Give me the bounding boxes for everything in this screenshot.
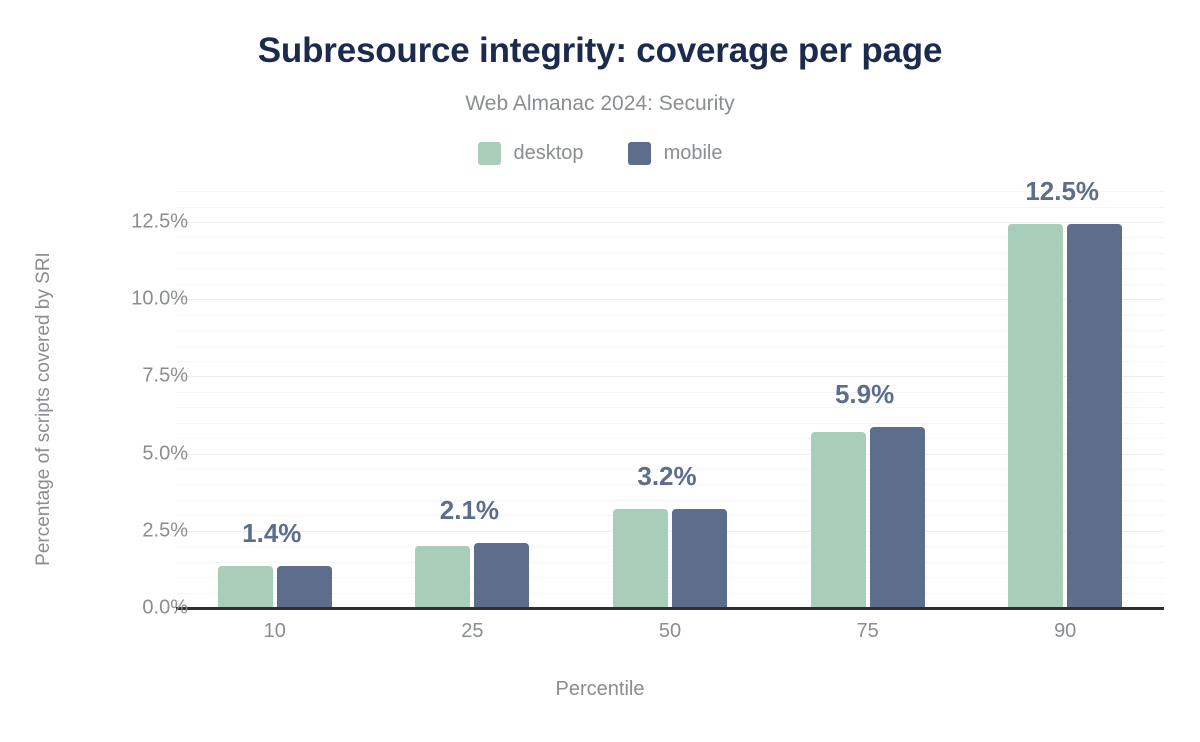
bar-mobile-50[interactable] xyxy=(672,509,727,608)
bar-value-label: 5.9% xyxy=(835,379,894,410)
x-axis-tick-label: 10 xyxy=(264,620,286,643)
x-axis-tick-label: 75 xyxy=(856,620,878,643)
bar-mobile-75[interactable] xyxy=(870,427,925,608)
bar-desktop-90[interactable] xyxy=(1008,224,1063,608)
legend-swatch-mobile xyxy=(628,142,651,165)
bar-desktop-10[interactable] xyxy=(218,566,273,608)
legend-item-desktop[interactable]: desktop xyxy=(478,142,584,165)
bar-chart: Subresource integrity: coverage per page… xyxy=(0,0,1200,742)
x-axis-line xyxy=(176,607,1164,610)
chart-subtitle: Web Almanac 2024: Security xyxy=(0,92,1200,116)
bar-value-label: 2.1% xyxy=(440,495,499,526)
legend-swatch-desktop xyxy=(478,142,501,165)
chart-legend: desktop mobile xyxy=(0,142,1200,165)
legend-label-mobile: mobile xyxy=(664,142,723,165)
x-axis-tick-label: 90 xyxy=(1054,620,1076,643)
plot-area xyxy=(176,188,1164,608)
bar-mobile-90[interactable] xyxy=(1067,224,1122,608)
bar-desktop-75[interactable] xyxy=(811,432,866,608)
bar-group xyxy=(374,188,572,608)
bar-value-label: 12.5% xyxy=(1025,176,1099,207)
bar-mobile-25[interactable] xyxy=(474,543,529,608)
bar-group xyxy=(966,188,1164,608)
bar-desktop-25[interactable] xyxy=(415,546,470,608)
legend-item-mobile[interactable]: mobile xyxy=(628,142,723,165)
y-axis-title: Percentage of scripts covered by SRI xyxy=(33,199,55,619)
bar-desktop-50[interactable] xyxy=(613,509,668,608)
legend-label-desktop: desktop xyxy=(514,142,584,165)
x-axis-tick-label: 25 xyxy=(461,620,483,643)
bars-layer xyxy=(176,188,1164,608)
bar-value-label: 1.4% xyxy=(242,518,301,549)
chart-title: Subresource integrity: coverage per page xyxy=(0,31,1200,71)
x-axis-tick-label: 50 xyxy=(659,620,681,643)
bar-value-label: 3.2% xyxy=(637,461,696,492)
bar-mobile-10[interactable] xyxy=(277,566,332,608)
x-axis-title: Percentile xyxy=(0,678,1200,701)
bar-group xyxy=(571,188,769,608)
